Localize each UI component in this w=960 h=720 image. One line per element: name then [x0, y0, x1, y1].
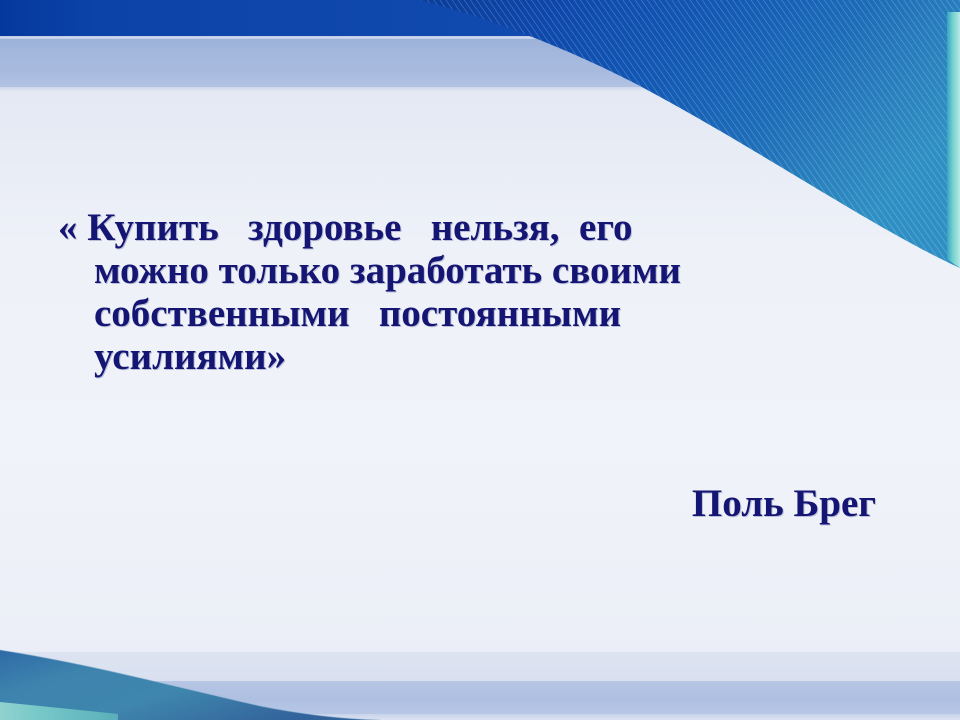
quote-text-block[interactable]: « Купить здоровье нельзя, его можно толь…	[58, 206, 918, 378]
quote-line-2: можно только заработать своими	[58, 249, 918, 292]
quote-line-1: « Купить здоровье нельзя, его	[58, 206, 918, 249]
quote-attribution: Поль Брег	[58, 480, 918, 528]
slide-content: « Купить здоровье нельзя, его можно толь…	[0, 0, 960, 720]
quote-line-3: собственными постоянными	[58, 292, 918, 335]
quote-line-4: усилиями»	[58, 335, 918, 378]
slide-canvas: « Купить здоровье нельзя, его можно толь…	[0, 0, 960, 720]
